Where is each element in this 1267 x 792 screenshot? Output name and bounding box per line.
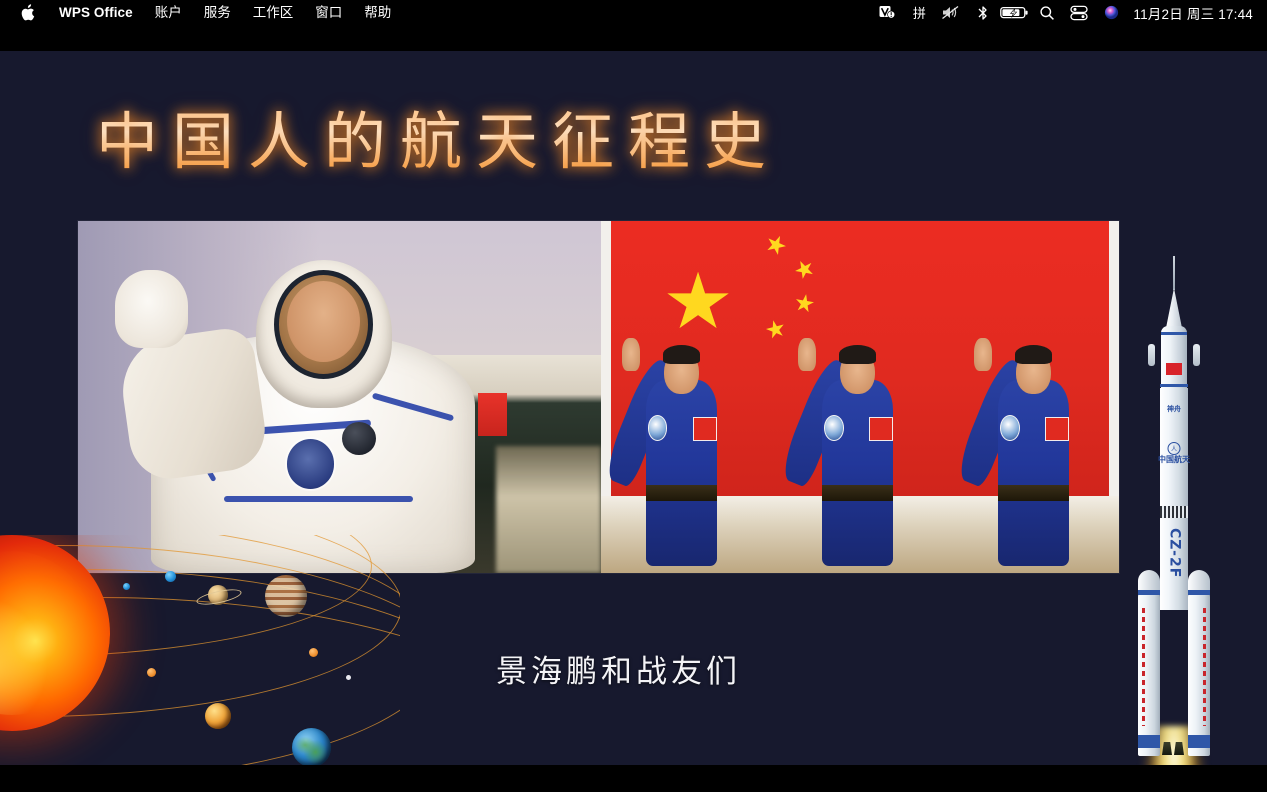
menu-bar-left-group: WPS Office 账户 服务 工作区 窗口 帮助: [0, 0, 402, 25]
casc-logo-icon: 人: [1168, 442, 1181, 455]
rocket-booster: [1138, 586, 1160, 756]
mission-patch: [824, 415, 844, 441]
menu-bar-status-group: 拼: [871, 0, 1267, 25]
three-astronauts-flag-photo: [601, 221, 1119, 573]
astronaut-face: [287, 281, 360, 362]
menu-item-workspace[interactable]: 工作区: [242, 0, 305, 25]
china-flag-marking: [1166, 363, 1182, 375]
planet-earth: [292, 728, 331, 765]
mission-patch: [287, 439, 334, 488]
booster-nose: [1138, 570, 1160, 592]
astronaut-suit-photo: [78, 221, 601, 573]
photo-background-equipment: [496, 446, 601, 573]
battery-charging-icon[interactable]: [999, 0, 1031, 25]
pinyin-glyph: 拼: [913, 3, 926, 22]
flight-suit: [822, 380, 893, 566]
astronaut-person: [632, 334, 730, 566]
belt: [998, 485, 1069, 501]
macos-menu-bar: WPS Office 账户 服务 工作区 窗口 帮助 拼: [0, 0, 1267, 25]
belt: [822, 485, 893, 501]
rocket-craft-text: 神舟: [1167, 406, 1181, 413]
presentation-slide: 中国人的航天征程史: [0, 51, 1267, 765]
astronaut-person: [808, 334, 906, 566]
booster-band: [1188, 590, 1210, 595]
planet-pluto: [346, 675, 351, 680]
waving-hand: [798, 338, 816, 371]
bottom-black-bar: [0, 765, 1267, 792]
flag-star-small: [794, 293, 816, 315]
booster-stripe: [1142, 608, 1145, 726]
flag-star-large: [666, 272, 730, 334]
rocket-agency-text: 中国航天: [1158, 456, 1190, 464]
photo-strip: [78, 221, 1119, 573]
escape-tower: [1173, 256, 1175, 290]
booster-band: [1188, 735, 1210, 748]
hair: [1015, 345, 1052, 364]
booster-band: [1138, 735, 1160, 748]
planet-uranus: [123, 583, 130, 590]
apple-logo-icon[interactable]: [12, 4, 42, 22]
planet-venus: [205, 703, 231, 729]
vpn-indicator-icon[interactable]: [871, 0, 903, 25]
menu-item-window[interactable]: 窗口: [304, 0, 353, 25]
control-center-icon[interactable]: [1063, 0, 1095, 25]
spotlight-search-icon[interactable]: [1031, 0, 1063, 25]
hair: [839, 345, 876, 364]
mission-patch: [1000, 415, 1020, 441]
rocket-band: [1160, 384, 1188, 387]
belt: [646, 485, 717, 501]
flight-suit: [998, 380, 1069, 566]
menu-item-account[interactable]: 账户: [144, 0, 193, 25]
waving-hand: [115, 270, 188, 347]
menu-app-name[interactable]: WPS Office: [48, 0, 144, 25]
planet-mars: [309, 648, 318, 657]
capsule-fin: [1193, 344, 1200, 366]
planet-mercury: [147, 668, 156, 677]
solar-system-illustration: [0, 535, 400, 765]
china-flag-patch: [693, 417, 717, 440]
china-flag-patch: [869, 417, 893, 440]
booster-stripe: [1203, 608, 1206, 726]
mission-patch: [648, 415, 668, 441]
flight-suit: [646, 380, 717, 566]
rocket-nose-cone: [1166, 288, 1182, 328]
hair: [663, 345, 700, 364]
rocket-grid-detail: [1160, 506, 1188, 518]
volume-muted-icon[interactable]: [935, 0, 967, 25]
china-flag-patch: [1045, 417, 1069, 440]
planet-neptune: [165, 571, 176, 582]
china-flag-patch: [478, 393, 507, 435]
flag-star-small: [791, 256, 818, 283]
bluetooth-icon[interactable]: [967, 0, 999, 25]
waving-hand: [974, 338, 992, 371]
slide-title: 中国人的航天征程史: [96, 91, 780, 181]
waving-hand: [622, 338, 640, 371]
shenzhou-capsule: [1161, 326, 1187, 390]
flag-star-small: [762, 232, 788, 258]
long-march-2f-rocket: 神舟 人 中国航天 CZ-2F: [1122, 256, 1226, 765]
menu-item-services[interactable]: 服务: [193, 0, 242, 25]
astronaut-person: [984, 334, 1082, 566]
rocket-band: [1161, 332, 1187, 335]
suit-connector: [342, 422, 376, 455]
input-method-pinyin-icon[interactable]: 拼: [903, 0, 935, 25]
screen: WPS Office 账户 服务 工作区 窗口 帮助 拼: [0, 0, 1267, 792]
siri-icon[interactable]: [1095, 0, 1127, 25]
planet-jupiter: [265, 575, 307, 617]
rocket-designation: CZ-2F: [1167, 528, 1182, 578]
spacesuit-stripe: [224, 496, 412, 502]
slide-caption-text: 景海鹏和战友们: [496, 646, 741, 691]
rocket-booster: [1188, 586, 1210, 756]
menu-bar-clock[interactable]: 11月2日 周三 17:44: [1127, 3, 1267, 23]
flag-star-small: [763, 318, 786, 341]
capsule-fin: [1148, 344, 1155, 366]
menu-item-help[interactable]: 帮助: [353, 0, 402, 25]
booster-band: [1138, 590, 1160, 595]
booster-nose: [1188, 570, 1210, 592]
